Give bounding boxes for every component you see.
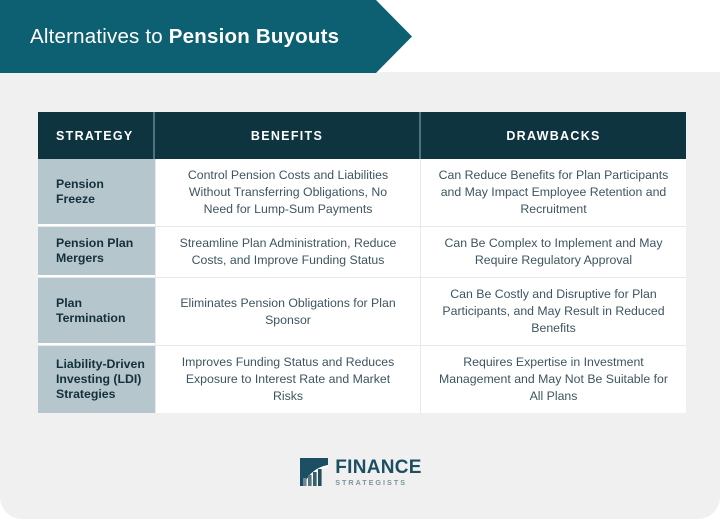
cell-strategy: Plan Termination	[38, 278, 155, 345]
card-background-top	[386, 72, 720, 102]
cell-drawbacks: Can Reduce Benefits for Plan Participant…	[421, 159, 686, 226]
table-row: Pension Plan Mergers Streamline Plan Adm…	[38, 227, 686, 278]
cell-drawbacks: Can Be Costly and Disruptive for Plan Pa…	[421, 278, 686, 345]
cell-strategy: Pension Freeze	[38, 159, 155, 226]
logo-primary-text: FINANCE	[335, 458, 422, 477]
page-title-emphasis: Pension Buyouts	[169, 25, 339, 48]
table-row: Pension Freeze Control Pension Costs and…	[38, 159, 686, 227]
header-banner: Alternatives to Pension Buyouts	[0, 0, 412, 73]
cell-drawbacks: Can Be Complex to Implement and May Requ…	[421, 227, 686, 277]
table-header-row: STRATEGY BENEFITS DRAWBACKS	[38, 112, 686, 159]
infographic-root: Alternatives to Pension Buyouts STRATEGY…	[0, 0, 720, 519]
page-title: Alternatives to Pension Buyouts	[0, 25, 339, 49]
cell-benefits: Eliminates Pension Obligations for Plan …	[155, 278, 421, 345]
column-header-benefits: BENEFITS	[155, 112, 421, 159]
column-header-strategy: STRATEGY	[38, 112, 155, 159]
logo-secondary-text: STRATEGISTS	[335, 479, 422, 486]
column-header-drawbacks: DRAWBACKS	[421, 112, 686, 159]
brand-logo: FINANCE STRATEGISTS	[0, 456, 720, 488]
table-row: Liability-Driven Investing (LDI) Strateg…	[38, 346, 686, 413]
cell-strategy: Pension Plan Mergers	[38, 227, 155, 277]
logo-wordmark: FINANCE STRATEGISTS	[335, 458, 422, 486]
cell-benefits: Improves Funding Status and Reduces Expo…	[155, 346, 421, 413]
cell-strategy: Liability-Driven Investing (LDI) Strateg…	[38, 346, 155, 413]
cell-benefits: Control Pension Costs and Liabilities Wi…	[155, 159, 421, 226]
cell-drawbacks: Requires Expertise in Investment Managem…	[421, 346, 686, 413]
comparison-table: STRATEGY BENEFITS DRAWBACKS Pension Free…	[38, 112, 686, 413]
cell-benefits: Streamline Plan Administration, Reduce C…	[155, 227, 421, 277]
page-title-prefix: Alternatives to	[30, 25, 169, 48]
table-row: Plan Termination Eliminates Pension Obli…	[38, 278, 686, 346]
finance-strategists-chart-swoosh-icon	[298, 456, 330, 488]
